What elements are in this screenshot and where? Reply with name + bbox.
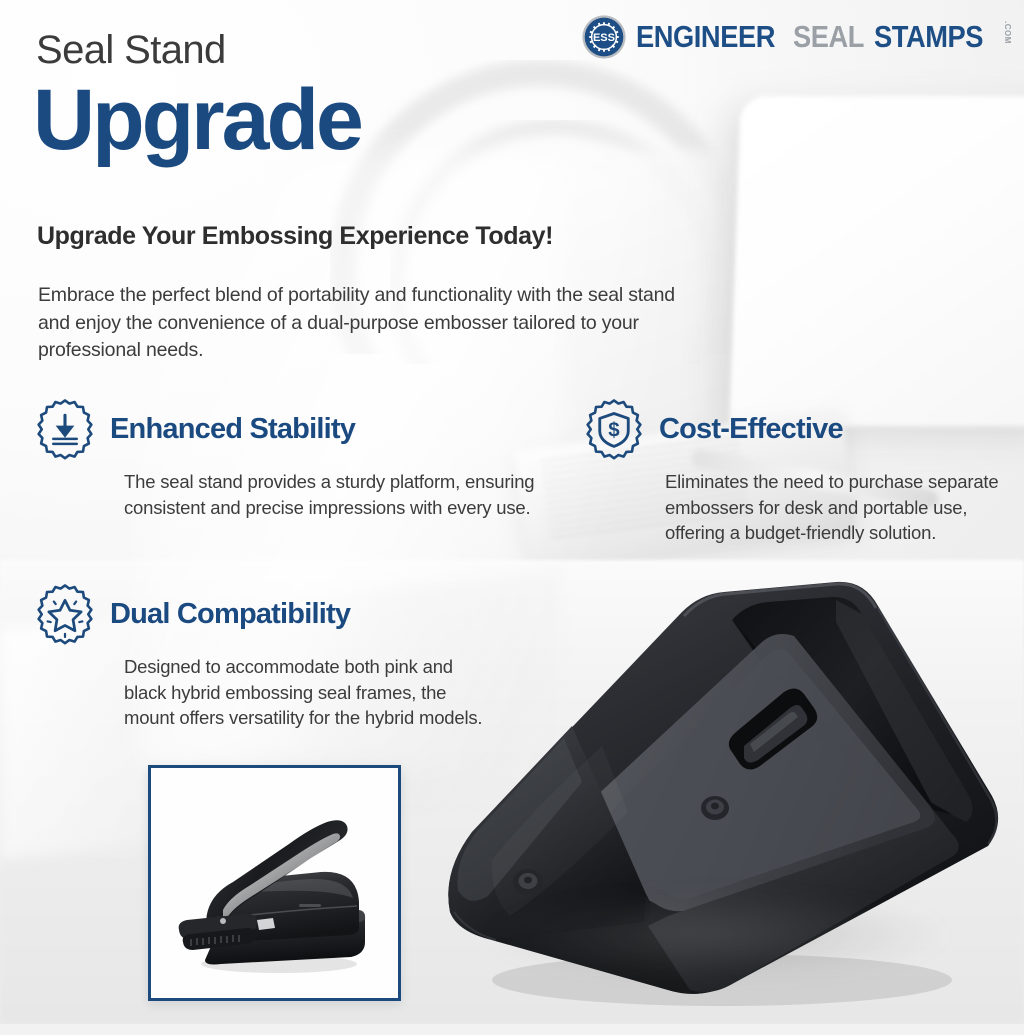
svg-text:ESS: ESS	[592, 32, 614, 44]
feature-title: Cost-Effective	[659, 413, 843, 446]
feature-description: Designed to accommodate both pink and bl…	[124, 654, 484, 731]
main-product-seal-stand	[432, 560, 1024, 1030]
background-laptop	[729, 96, 1024, 426]
brand-logo[interactable]: ESS ENGINEER SEAL STAMPS .COM	[581, 14, 1013, 60]
page-intro-paragraph: Embrace the perfect blend of portability…	[38, 282, 710, 365]
feature-header: Enhanced Stability	[34, 398, 564, 460]
feature-header: $ Cost-Effective	[583, 398, 1013, 460]
download-arrow-badge-icon	[34, 398, 96, 460]
product-shadow	[482, 890, 952, 980]
page-subheading: Upgrade Your Embossing Experience Today!	[37, 222, 553, 251]
feature-title: Enhanced Stability	[110, 413, 355, 446]
brand-domain-suffix: .COM	[1003, 21, 1012, 44]
page-title: Upgrade	[33, 78, 361, 162]
feature-cost-effective: $ Cost-Effective Eliminates the need to …	[583, 398, 1013, 546]
feature-description: The seal stand provides a sturdy platfor…	[124, 469, 564, 520]
shield-dollar-badge-icon: $	[583, 398, 645, 460]
feature-description: Eliminates the need to purchase separate…	[665, 469, 1010, 546]
ess-gear-emblem-icon: ESS	[581, 14, 627, 60]
inset-product-image	[148, 765, 401, 1001]
desk-embosser-illustration	[161, 782, 394, 990]
page-kicker: Seal Stand	[36, 28, 226, 73]
brand-word-seal: SEAL	[793, 19, 864, 55]
star-sparkle-badge-icon	[34, 583, 96, 645]
feature-title: Dual Compatibility	[110, 598, 350, 631]
brand-wordmark: ENGINEER SEAL STAMPS	[636, 19, 999, 55]
feature-enhanced-stability: Enhanced Stability The seal stand provid…	[34, 398, 564, 520]
svg-text:$: $	[608, 418, 620, 441]
brand-word-stamps: STAMPS	[874, 19, 983, 55]
brand-word-engineer: ENGINEER	[636, 19, 775, 55]
